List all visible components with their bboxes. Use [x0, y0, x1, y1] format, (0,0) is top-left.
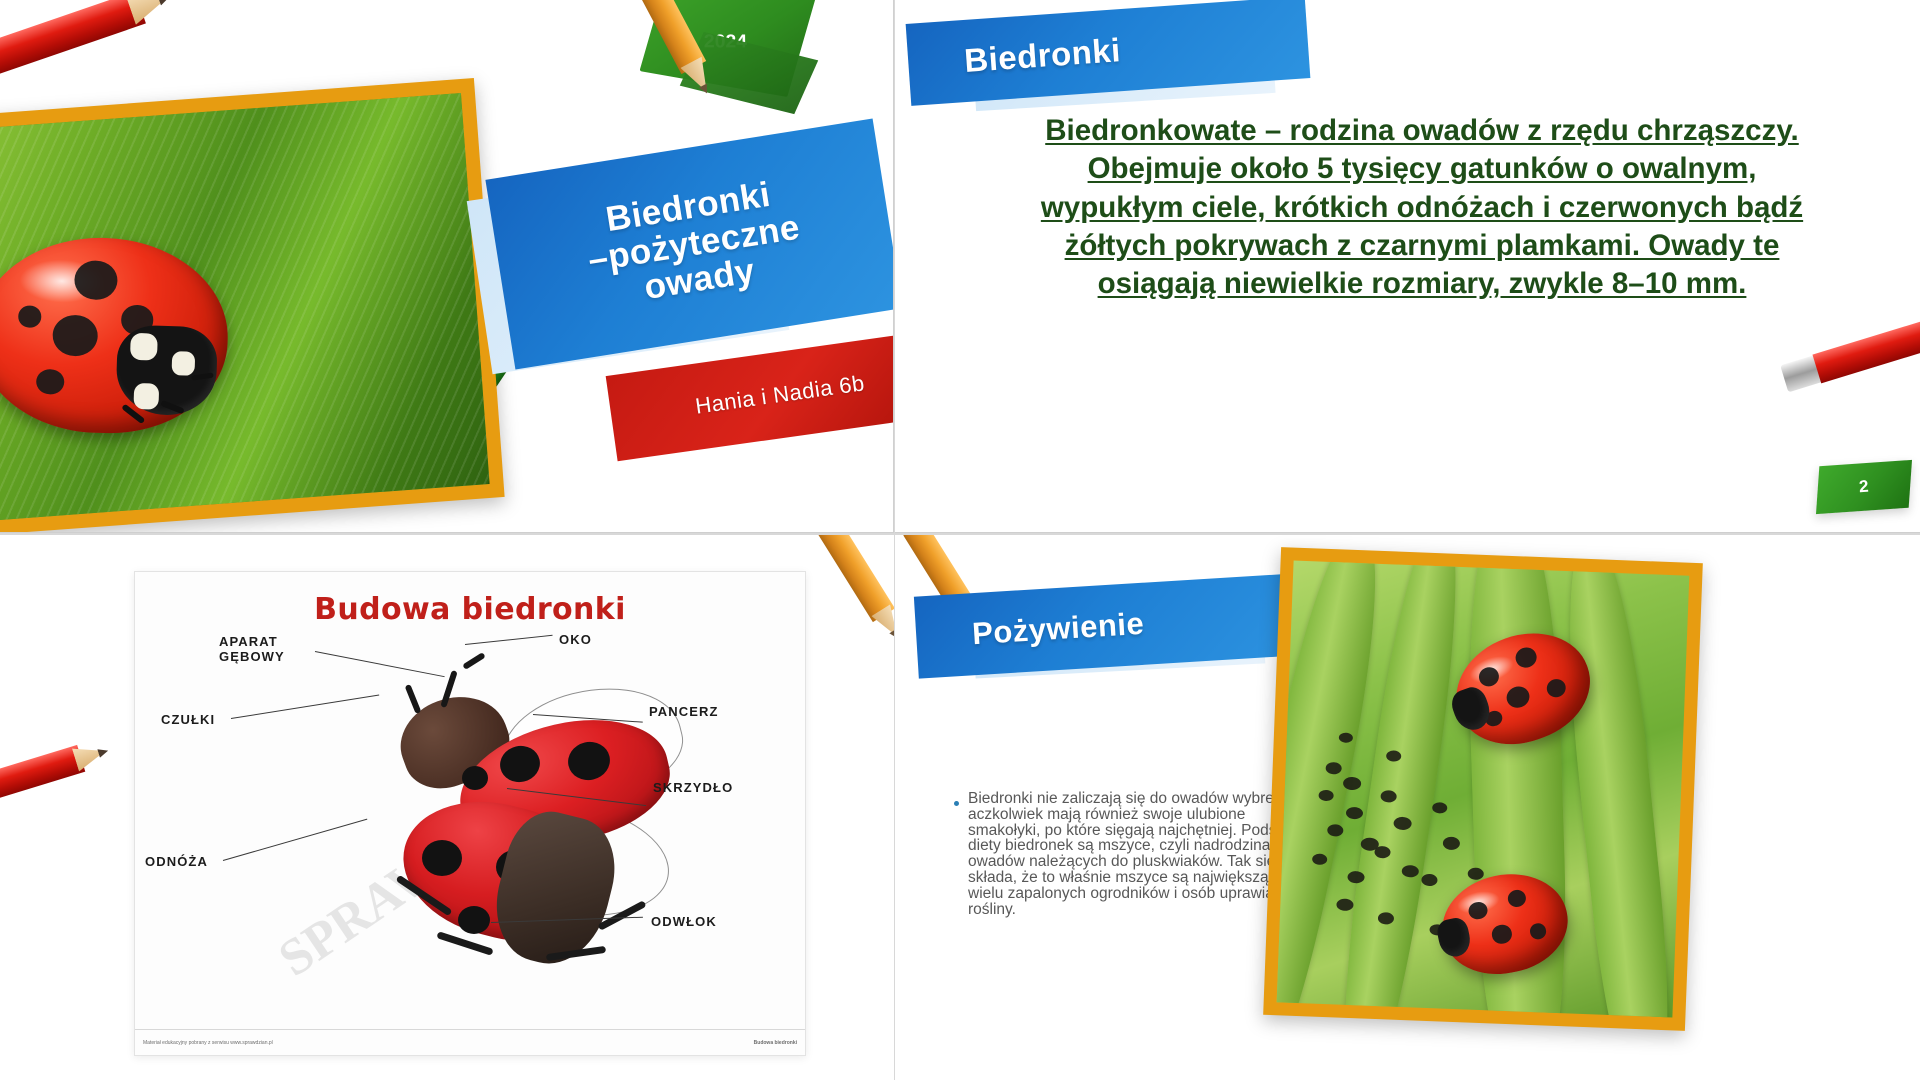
label-line: APARAT — [219, 634, 278, 649]
aphid-photo — [1277, 561, 1690, 1018]
heading-label: Pożywienie — [971, 606, 1145, 652]
slide2-body-text: Biedronkowate – rodzina owadów z rzędu c… — [1022, 112, 1822, 304]
diagram-footer-title: Budowa biedronki — [754, 1040, 797, 1046]
slide-grid: 2024 — [0, 0, 1920, 1080]
slide-4[interactable]: Pożywienie Biedronki nie zaliczają się d… — [894, 533, 1920, 1080]
label-pancerz: PANCERZ — [649, 704, 719, 719]
page-number-badge: 2 — [1816, 460, 1912, 514]
red-pencil-icon — [0, 0, 174, 89]
title-banner: Biedronki –pożyteczne owady — [485, 119, 894, 370]
red-pencil-icon — [0, 737, 110, 816]
diagram-footer-source: Materiał edukacyjny pobrany z serwisu ww… — [143, 1040, 273, 1046]
ladybug-illustration — [0, 234, 231, 437]
label-odwlok: ODWŁOK — [651, 914, 717, 929]
aphid-photo-frame — [1263, 547, 1703, 1031]
orange-pencil-icon — [791, 533, 894, 644]
slide-1[interactable]: 2024 — [0, 0, 894, 533]
slide-2[interactable]: Biedronki Biedronkowate – rodzina owadów… — [894, 0, 1920, 533]
bullet-point-icon — [954, 801, 959, 806]
leader-line — [465, 635, 553, 645]
heading-label: Biedronki — [963, 31, 1122, 80]
label-aparat-gebowy: APARAT GĘBOWY — [219, 634, 285, 664]
label-oko: OKO — [559, 632, 592, 647]
label-skrzydlo: SKRZYDŁO — [653, 780, 733, 795]
title-photo-frame — [0, 78, 505, 533]
label-czulki: CZUŁKI — [161, 712, 215, 727]
grid-divider-vertical — [894, 0, 895, 1080]
author-label: Hania i Nadia 6b — [694, 370, 867, 419]
leader-line — [223, 819, 367, 861]
slide-3[interactable]: SPRAWDZIAN Budowa biedronki — [0, 533, 894, 1080]
anatomy-diagram-card: SPRAWDZIAN Budowa biedronki — [134, 571, 806, 1056]
ladybug-photo — [0, 93, 490, 523]
label-odnoza: ODNÓŻA — [145, 854, 208, 869]
ladybug-anatomy-illustration — [350, 654, 680, 984]
red-pencil-icon — [1774, 305, 1920, 395]
grid-divider-horizontal — [0, 533, 1920, 535]
label-line: GĘBOWY — [219, 649, 285, 664]
diagram-footer: Materiał edukacyjny pobrany z serwisu ww… — [135, 1029, 805, 1055]
page-number: 2 — [1859, 477, 1870, 497]
diagram-title: Budowa biedronki — [135, 592, 805, 627]
